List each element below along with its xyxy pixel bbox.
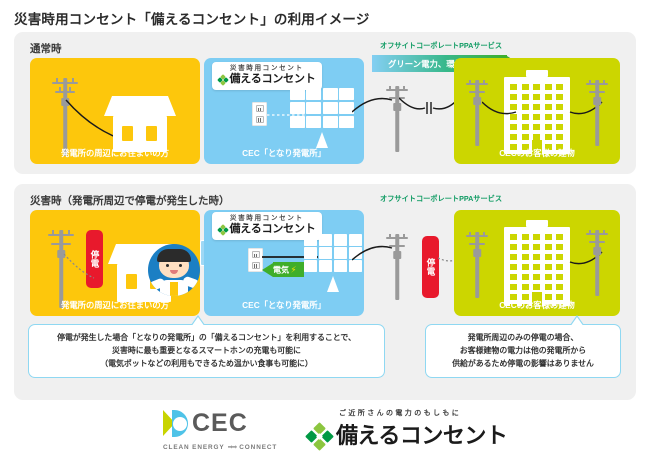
- cec-tagline-right: CONNECT: [239, 444, 277, 451]
- zone-caption-tonari: CEC「となり発電所」: [204, 299, 364, 311]
- power-wire: [352, 94, 394, 116]
- callout-left: 停電が発生した場合「となりの発電所」の「備えるコンセント」を利用することで、 災…: [28, 324, 385, 378]
- ppa-service-label: オフサイトコーポレートPPAサービス: [380, 41, 502, 51]
- outlet-icon: [248, 248, 263, 272]
- zone-caption-residents: 発電所の周辺にお住まいの方: [30, 147, 200, 159]
- zone-residents-normal: 発電所の周辺にお住まいの方: [30, 58, 200, 164]
- callout-left-line-3: （電気ポットなどの利用もできるため温かい食事も可能に）: [37, 358, 376, 371]
- panel-disaster-time: 災害時（発電所周辺で停電が発生した時） 停電 発電所: [14, 184, 636, 400]
- utility-pole-icon: [466, 232, 488, 298]
- lightning-bolt-icon: ⚡: [291, 265, 297, 274]
- sonaeru-tagline: ご近所さんの電力のもしもに: [339, 408, 461, 418]
- panel-label-disaster: 災害時（発電所周辺で停電が発生した時）: [30, 193, 230, 208]
- clover-mark-icon: [218, 225, 227, 234]
- ppa-service-label: オフサイトコーポレートPPAサービス: [380, 194, 502, 204]
- panel-label-normal: 通常時: [30, 41, 62, 56]
- sonaeru-badge: 災害時用コンセント 備えるコンセント: [212, 62, 322, 90]
- outlet-icon: [252, 102, 267, 126]
- callout-right-line-2: お客様建物の電力は他の発電所から: [434, 345, 612, 358]
- zone-customer-building-normal: CECのお客様の建物: [454, 58, 620, 164]
- cec-logo: CEC: [163, 410, 248, 437]
- power-wire-break: [399, 92, 461, 116]
- zone-tonari-plant-disaster: 災害時用コンセント 備えるコンセント: [204, 210, 364, 316]
- infographic-page: 災害時用コンセント「備えるコンセント」の利用イメージ 通常時: [0, 0, 650, 475]
- power-wire-dotted: [62, 252, 96, 284]
- outage-badge-right: 停電: [422, 236, 439, 298]
- power-wire: [352, 242, 394, 264]
- solar-panel-icon: [290, 88, 354, 150]
- zone-caption-customer: CECのお客様の建物: [454, 299, 620, 311]
- callout-right-line-3: 供給があるため停電の影響はありません: [434, 358, 612, 371]
- page-title: 災害時用コンセント「備えるコンセント」の利用イメージ: [14, 8, 370, 28]
- badge-line1: 災害時用コンセント: [218, 215, 316, 223]
- panel-normal-time: 通常時 発電所の周辺にお住まいの方: [14, 32, 636, 174]
- cec-tagline-left: CLEAN ENERGY: [163, 444, 225, 451]
- electricity-arrow: 電気 ⚡: [262, 262, 304, 277]
- clover-mark-icon: [218, 75, 227, 84]
- badge-line1: 災害時用コンセント: [218, 65, 316, 73]
- sonaeru-row: 備えるコンセント: [307, 424, 507, 448]
- zone-caption-customer: CECのお客様の建物: [454, 147, 620, 159]
- callout-left-line-2: 災害時に最も重要となるスマートホンの充電も可能に: [37, 345, 376, 358]
- clover-mark-icon: [307, 424, 331, 448]
- office-building-icon: [504, 220, 570, 306]
- zone-tonari-plant-normal: 災害時用コンセント 備えるコンセント: [204, 58, 364, 164]
- utility-pole-icon: [586, 80, 608, 146]
- cec-tagline-arrows-icon: ➡➡: [228, 443, 237, 451]
- cec-mark-icon: [163, 410, 188, 437]
- footer-logos: CEC CLEAN ENERGY ➡➡ CONNECT ご近所さんの電力のもしも…: [0, 404, 650, 470]
- sonaeru-wordmark: 備えるコンセント: [336, 425, 507, 447]
- badge-line2: 備えるコンセント: [218, 223, 316, 236]
- cec-wordmark: CEC: [192, 411, 248, 436]
- zone-caption-tonari: CEC「となり発電所」: [204, 147, 364, 159]
- cec-tagline: CLEAN ENERGY ➡➡ CONNECT: [163, 443, 277, 451]
- callout-right-line-1: 発電所周辺のみの停電の場合、: [434, 332, 612, 345]
- callout-right: 発電所周辺のみの停電の場合、 お客様建物の電力は他の発電所から 供給があるため停…: [425, 324, 621, 378]
- zone-customer-building-disaster: CECのお客様の建物: [454, 210, 620, 316]
- zone-caption-residents: 発電所の周辺にお住まいの方: [30, 299, 200, 311]
- resident-avatar-icon: [148, 244, 200, 296]
- power-wire: [482, 98, 518, 118]
- electricity-arrow-label: 電気 ⚡: [273, 264, 296, 275]
- house-icon: [104, 96, 176, 152]
- callout-left-line-1: 停電が発生した場合「となりの発電所」の「備えるコンセント」を利用することで、: [37, 332, 376, 345]
- badge-line2: 備えるコンセント: [218, 73, 316, 86]
- utility-pole-icon: [586, 230, 608, 296]
